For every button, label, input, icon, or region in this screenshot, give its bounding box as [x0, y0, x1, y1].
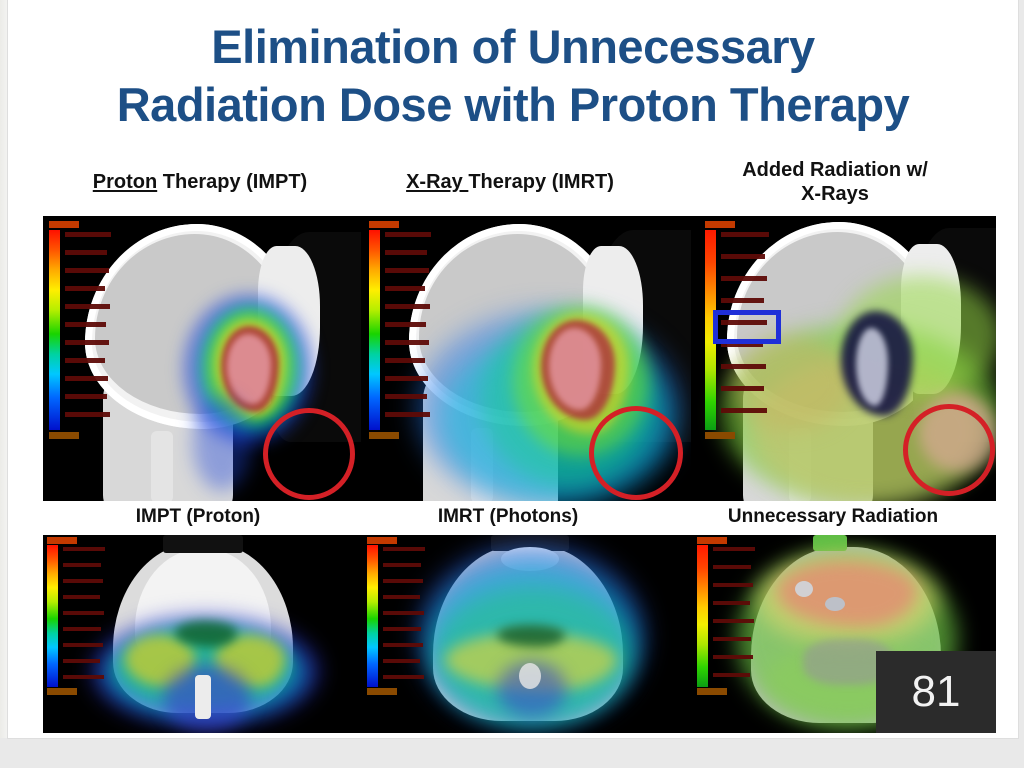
title-line-2: Radiation Dose with Proton Therapy	[8, 76, 1018, 134]
left-edge-rail	[0, 0, 8, 768]
page-title: Elimination of Unnecessary Radiation Dos…	[8, 18, 1018, 134]
slide-screen: Elimination of Unnecessary Radiation Dos…	[0, 0, 1024, 768]
colorbar-tick-labels	[63, 545, 123, 687]
colorbar-tick-labels	[65, 230, 125, 430]
header-1-underlined: Proton	[93, 171, 157, 193]
header-3-line-2: X-Rays	[680, 182, 990, 206]
colorbar-axial-impt	[47, 545, 117, 687]
header-2-underlined: X-Ray	[406, 171, 468, 193]
header-added-radiation: Added Radiation w/X-Rays	[680, 158, 990, 206]
sagittal-image-band	[43, 216, 996, 501]
colorbar-imrt	[369, 230, 445, 430]
panel-sagittal-impt-proton	[43, 216, 361, 501]
red-circle-annotation	[903, 404, 995, 496]
caption-impt-proton: IMPT (Proton)	[53, 505, 343, 529]
colorbar-impt	[49, 230, 125, 430]
caption-imrt-photons: IMRT (Photons)	[363, 505, 653, 529]
colorbar-gradient	[697, 545, 708, 687]
page-number-badge: 81	[876, 651, 996, 733]
red-circle-annotation	[263, 408, 355, 500]
header-2-rest: Therapy (IMRT)	[468, 171, 614, 193]
colorbar-axial-imrt	[367, 545, 437, 687]
header-1-rest: Therapy (IMPT)	[157, 171, 307, 193]
red-circle-annotation	[589, 406, 683, 500]
colorbar-gradient	[369, 230, 380, 430]
axial-image-band: 81	[43, 535, 996, 733]
slide-page: Elimination of Unnecessary Radiation Dos…	[8, 0, 1018, 738]
colorbar-tick-labels	[385, 230, 445, 430]
colorbar-gradient	[367, 545, 378, 687]
colorbar-gradient	[47, 545, 58, 687]
colorbar-tick-labels	[383, 545, 443, 687]
header-proton-therapy: Proton Therapy (IMPT)	[50, 170, 350, 194]
row-captions: IMPT (Proton) IMRT (Photons) Unnecessary…	[43, 503, 996, 533]
column-headers: Proton Therapy (IMPT) X-Ray Therapy (IMR…	[40, 158, 1000, 216]
panel-axial-dose-difference: 81	[691, 535, 996, 733]
caption-unnecessary-radiation: Unnecessary Radiation	[673, 505, 993, 529]
header-xray-therapy: X-Ray Therapy (IMRT)	[360, 170, 660, 194]
colorbar-axial-difference	[697, 545, 767, 687]
bottom-edge-rail	[0, 738, 1024, 768]
panel-axial-impt-proton	[43, 535, 361, 733]
colorbar-gradient	[49, 230, 60, 430]
blue-rect-annotation	[713, 310, 781, 344]
title-line-1: Elimination of Unnecessary	[8, 18, 1018, 76]
panel-sagittal-imrt-photon	[361, 216, 691, 501]
header-3-line-1: Added Radiation w/	[680, 158, 990, 182]
panel-sagittal-dose-difference	[691, 216, 996, 501]
panel-axial-imrt-photon	[361, 535, 691, 733]
page-number-value: 81	[912, 667, 961, 717]
colorbar-tick-labels	[713, 545, 773, 687]
